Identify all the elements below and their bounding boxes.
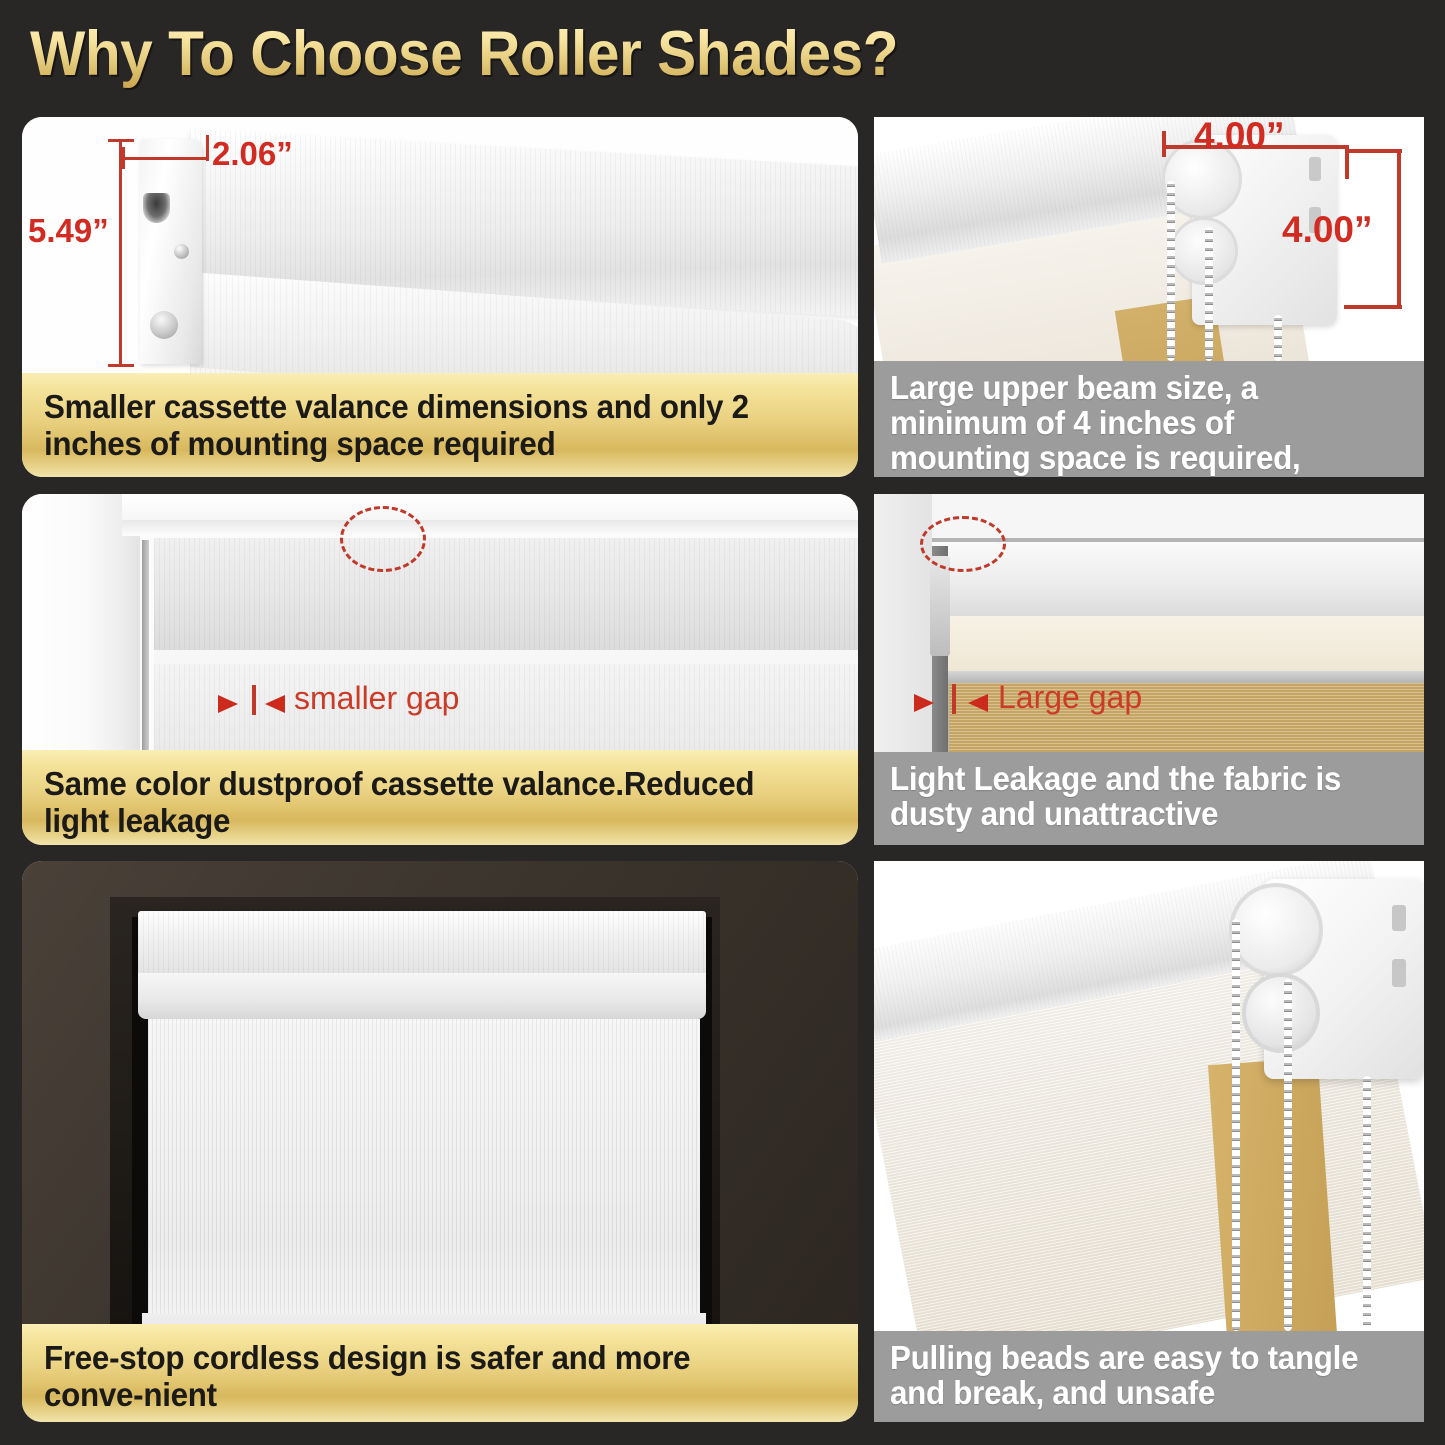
dimension-height-label: 5.49” [28,212,109,250]
page-title: Why To Choose Roller Shades? [30,18,898,90]
panel-2-caption-text: Large upper beam size, a minimum of 4 in… [890,371,1382,477]
shade-hem-bar [142,1313,706,1324]
screw-icon [150,311,178,339]
panel-2-photo: 4.00” 4.00” [874,117,1424,361]
panel-4-caption: Light Leakage and the fabric is dusty an… [874,752,1424,845]
bead-chain [1363,1076,1371,1331]
gap-arrow-left-icon [265,695,285,713]
bead-chain [1232,919,1240,1331]
highlight-circle [340,506,426,572]
mounting-clip [930,556,950,656]
gap-callout-label: smaller gap [294,680,459,717]
bracket-wheel [1229,883,1323,977]
bead-chain [1284,979,1292,1331]
bracket-wheel-lower [1242,973,1320,1053]
panel-2-caption: Large upper beam size, a minimum of 4 in… [874,361,1424,477]
shade-tan-fabric [1208,1058,1340,1331]
dimension-line-horizontal [122,157,208,160]
dimension-tick-right [206,135,209,161]
dimension-line-vertical [119,139,122,367]
gap-arrow-right-icon [914,694,934,712]
gap-callout-label: Large gap [998,679,1142,716]
panel-good-cordless: Free-stop cordless design is safer and m… [22,861,858,1422]
panel-bad-beads: Pulling beads are easy to tangle and bre… [874,861,1424,1422]
dimension-tick-left [1162,131,1166,157]
gap-arrow-right-icon [218,695,238,713]
bracket-slot-icon [1309,157,1321,181]
panel-bad-beam-size: 4.00” 4.00” Large upper beam size, a min… [874,117,1424,477]
shade-fabric [154,664,858,750]
dimension-height-label: 4.00” [1282,209,1373,251]
dimension-tick-bottom [108,364,134,367]
cassette-headrail [138,911,706,977]
bracket-slot-icon [1392,959,1406,987]
panel-1-caption: Smaller cassette valance dimensions and … [22,373,858,477]
bead-chain [1274,315,1282,361]
valance-gap [154,650,858,664]
panel-5-caption-text: Free-stop cordless design is safer and m… [44,1340,796,1414]
cassette-valance [154,538,858,650]
shade-side-edge [142,540,149,750]
bead-chain [1167,181,1175,361]
screw-icon [174,244,189,259]
gap-arrow-left-icon [968,694,988,712]
cassette-lower-lip [138,973,706,1019]
panel-5-photo [22,861,858,1324]
dimension-width-label: 4.00” [1194,117,1285,157]
panel-4-caption-text: Light Leakage and the fabric is dusty an… [890,762,1382,832]
panel-1-caption-text: Smaller cassette valance dimensions and … [44,389,796,463]
dimension-line-vertical [1397,149,1401,309]
dimension-tick-bottom [1344,305,1402,309]
panel-good-cassette-size: 5.49” 2.06” Smaller cassette valance dim… [22,117,858,477]
dimension-tick-left [122,147,125,169]
shade-fabric [148,1019,700,1319]
panel-5-caption: Free-stop cordless design is safer and m… [22,1324,858,1422]
dimension-tick-top [1346,149,1402,153]
panel-4-photo: Large gap [874,494,1424,752]
panel-3-caption: Same color dustproof cassette valance.Re… [22,750,858,845]
panel-1-photo: 5.49” 2.06” [22,117,858,375]
cream-band [926,616,1424,671]
bracket-wheel-lower [1170,217,1238,285]
panel-6-photo [874,861,1424,1331]
dimension-tick-top [108,139,134,142]
panel-3-photo: smaller gap [22,494,858,750]
bracket-slot-icon [1392,905,1406,931]
gap-marker [252,685,256,715]
panel-3-caption-text: Same color dustproof cassette valance.Re… [44,766,796,840]
panel-6-caption-text: Pulling beads are easy to tangle and bre… [890,1341,1382,1411]
panel-bad-light-leak: Large gap Light Leakage and the fabric i… [874,494,1424,845]
cassette-bracket [140,139,202,364]
title-bar: Why To Choose Roller Shades? [0,0,1445,112]
window-moulding [122,520,858,536]
bead-chain [1205,227,1213,361]
gap-marker [952,684,956,714]
panel-good-small-gap: smaller gap Same color dustproof cassett… [22,494,858,845]
highlight-circle [920,516,1006,572]
panel-6-caption: Pulling beads are easy to tangle and bre… [874,1331,1424,1422]
dimension-width-label: 2.06” [212,135,293,173]
